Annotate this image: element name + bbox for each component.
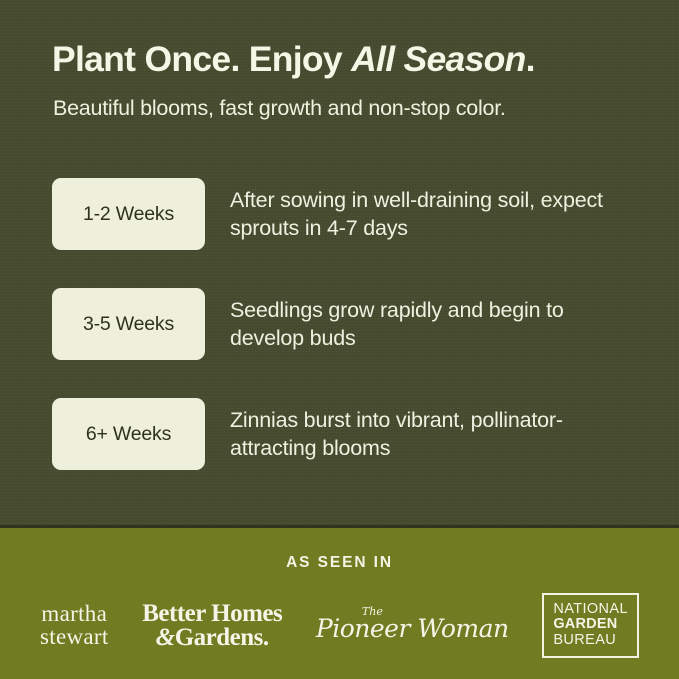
martha-stewart-logo: martha stewart bbox=[40, 603, 109, 648]
better-homes-and-gardens-logo: Better Homes &Gardens. bbox=[142, 602, 282, 650]
bhg-gardens-word: Gardens. bbox=[175, 624, 269, 651]
step-duration-badge: 6+ Weeks bbox=[52, 398, 205, 470]
headline-part-two: . bbox=[526, 39, 535, 79]
as-seen-in-title: AS SEEN IN bbox=[286, 554, 393, 572]
pioneer-wordmark: Pioneer Woman bbox=[316, 614, 509, 643]
step-duration-badge: 3-5 Weeks bbox=[52, 288, 205, 360]
bhg-line-two: &Gardens. bbox=[156, 626, 269, 650]
pioneer-the-word: The bbox=[362, 605, 383, 618]
national-garden-bureau-logo: NATIONAL GARDEN BUREAU bbox=[542, 593, 639, 659]
poster-root: Plant Once. Enjoy All Season. Beautiful … bbox=[0, 0, 679, 679]
hero-panel: Plant Once. Enjoy All Season. Beautiful … bbox=[0, 0, 679, 525]
timeline-step: 1-2 Weeks After sowing in well-draining … bbox=[52, 178, 639, 250]
step-duration-badge: 1-2 Weeks bbox=[52, 178, 205, 250]
ampersand-glyph: & bbox=[156, 624, 175, 651]
growth-timeline: 1-2 Weeks After sowing in well-draining … bbox=[52, 178, 639, 470]
the-pioneer-woman-logo: The Pioneer Woman bbox=[316, 608, 509, 643]
headline-emphasis: All Season bbox=[351, 39, 526, 79]
ngb-line-two: GARDEN bbox=[553, 617, 617, 633]
as-seen-in-band: AS SEEN IN martha stewart Better Homes &… bbox=[0, 528, 679, 679]
step-description: Zinnias burst into vibrant, pollinator-a… bbox=[230, 406, 639, 463]
headline-part-one: Plant Once. Enjoy bbox=[52, 39, 351, 79]
martha-stewart-line-one: martha bbox=[41, 603, 107, 625]
step-description: Seedlings grow rapidly and begin to deve… bbox=[230, 296, 639, 353]
page-subtitle: Beautiful blooms, fast growth and non-st… bbox=[53, 96, 649, 122]
timeline-step: 3-5 Weeks Seedlings grow rapidly and beg… bbox=[52, 288, 639, 360]
ngb-line-three: BUREAU bbox=[553, 633, 616, 649]
press-logo-row: martha stewart Better Homes &Gardens. Th… bbox=[0, 586, 679, 679]
bhg-line-one: Better Homes bbox=[142, 602, 282, 626]
timeline-step: 6+ Weeks Zinnias burst into vibrant, pol… bbox=[52, 398, 639, 470]
step-description: After sowing in well-draining soil, expe… bbox=[230, 186, 639, 243]
ngb-line-one: NATIONAL bbox=[553, 602, 628, 618]
martha-stewart-line-two: stewart bbox=[40, 626, 109, 648]
section-divider bbox=[0, 525, 679, 528]
page-title: Plant Once. Enjoy All Season. bbox=[52, 41, 649, 79]
